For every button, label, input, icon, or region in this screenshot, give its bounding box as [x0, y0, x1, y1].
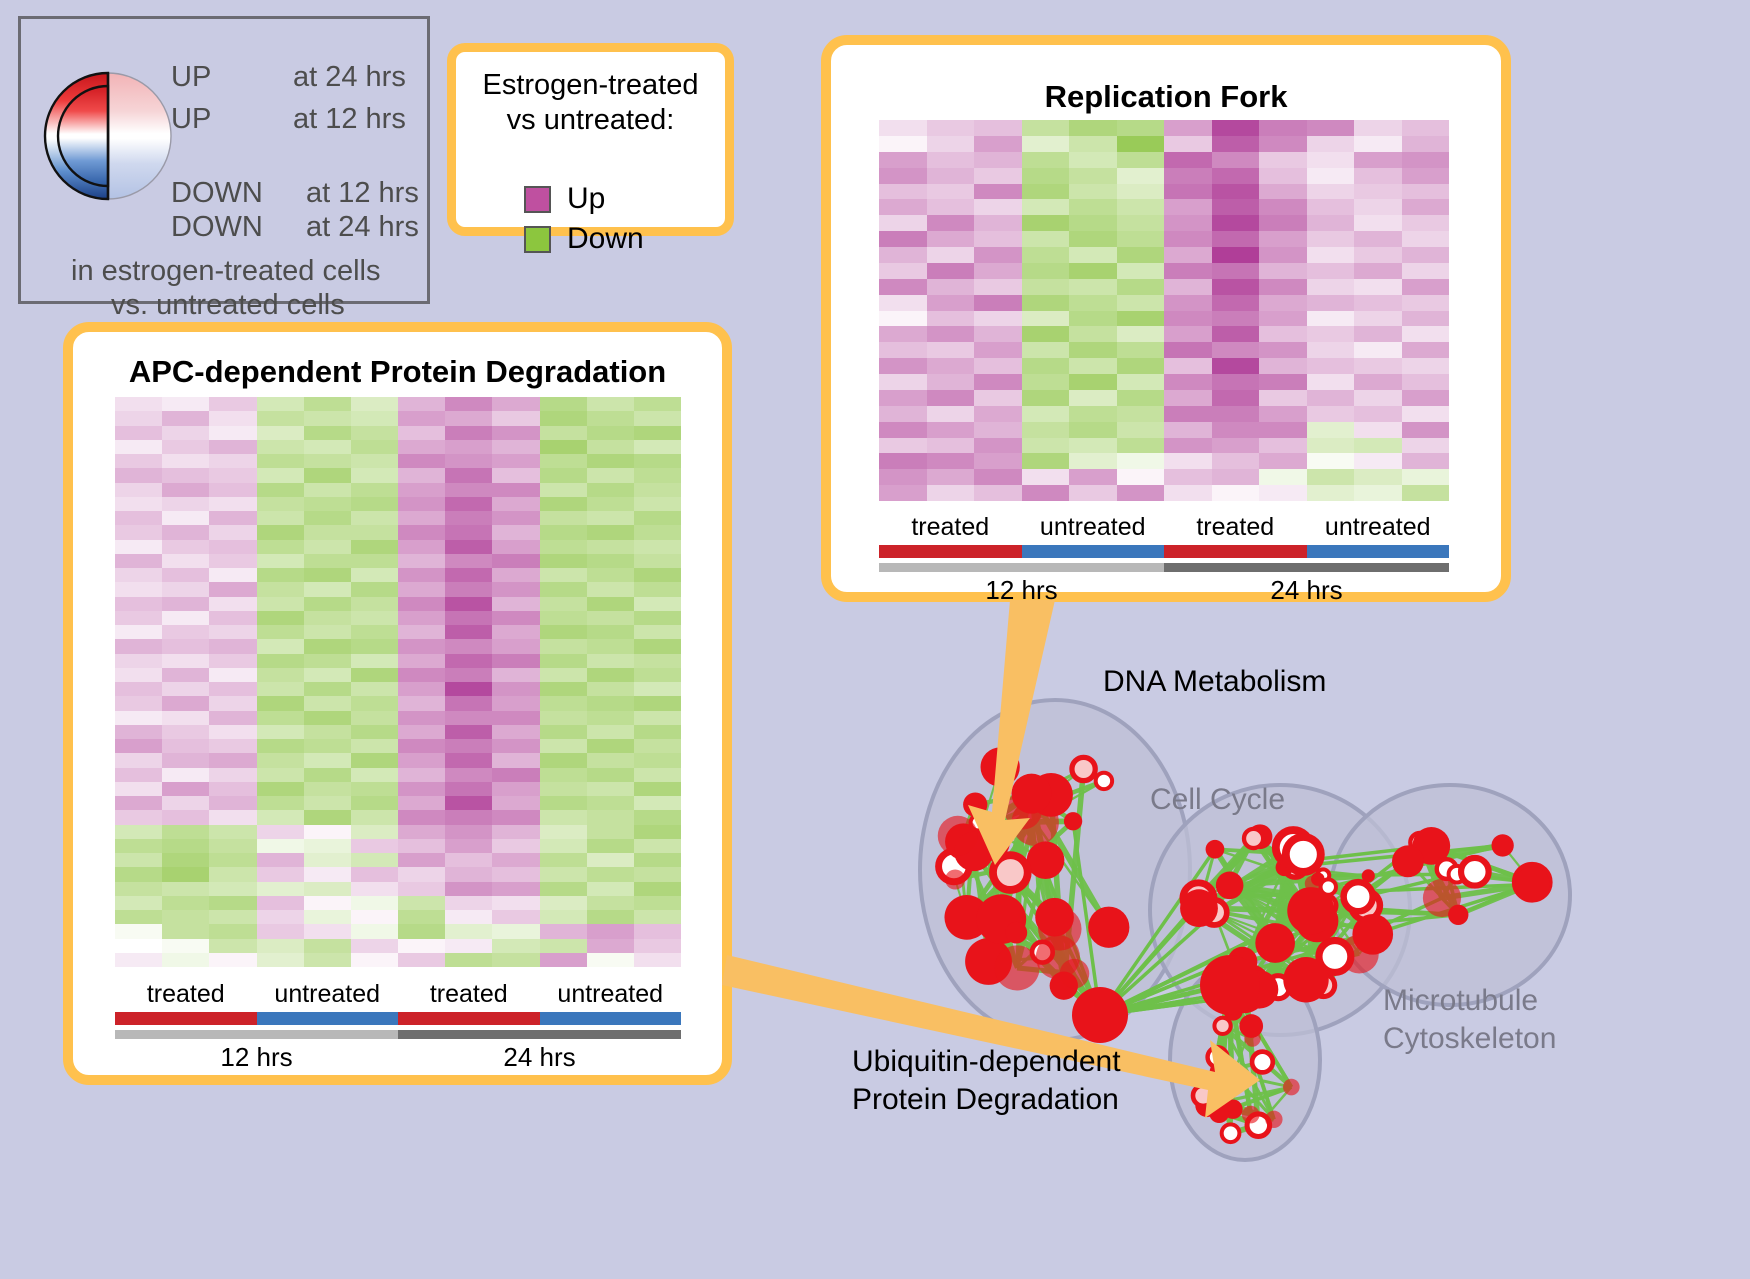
heatmap-cell	[257, 924, 304, 938]
heatmap-cell	[879, 231, 927, 247]
heatmap-cell	[492, 953, 539, 967]
heatmap-cell	[879, 199, 927, 215]
heatmap-cell	[1354, 374, 1402, 390]
heatmap-cell	[1307, 406, 1355, 422]
heatmap-cell	[209, 782, 256, 796]
heatmap-cell	[351, 810, 398, 824]
heatmap-cell	[209, 839, 256, 853]
heatmap-cell	[492, 440, 539, 454]
heatmap-cell	[1212, 215, 1260, 231]
heatmap-cell	[115, 568, 162, 582]
heatmap-cell	[162, 411, 209, 425]
group-color-segment	[1307, 545, 1450, 558]
network-node	[1072, 757, 1095, 780]
heatmap-cell	[1402, 295, 1450, 311]
heatmap-cell	[1164, 485, 1212, 501]
heatmap-cell	[1402, 279, 1450, 295]
heatmap-cell	[209, 882, 256, 896]
heatmap-cell	[540, 768, 587, 782]
heatmap-cell	[209, 910, 256, 924]
heatmap-cell	[1307, 374, 1355, 390]
heatmap-cell	[115, 411, 162, 425]
heatmap-cell	[634, 910, 681, 924]
heatmap-cell	[1022, 199, 1070, 215]
network-node	[1193, 1085, 1213, 1105]
heatmap-cell	[398, 711, 445, 725]
heatmap-cell	[257, 625, 304, 639]
cluster-label-microtubule-line1: Microtubule	[1383, 982, 1556, 1020]
heatmap-cell	[1022, 406, 1070, 422]
heatmap-cell	[257, 540, 304, 554]
heatmap-cell	[1354, 168, 1402, 184]
heatmap-cell	[304, 597, 351, 611]
heatmap-cell	[1212, 295, 1260, 311]
group-color-segment	[115, 1012, 257, 1025]
heatmap-cell	[1164, 279, 1212, 295]
heatmap-cell	[115, 711, 162, 725]
heatmap-cell	[351, 411, 398, 425]
heatmap-cell	[634, 825, 681, 839]
heatmap-cell	[587, 554, 634, 568]
heatmap-cell	[1212, 485, 1260, 501]
heatmap-cell	[974, 231, 1022, 247]
key-caption-line2: vs. untreated cells	[111, 289, 345, 322]
heatmap-cell	[351, 611, 398, 625]
heatmap-cell	[445, 696, 492, 710]
heatmap-cell	[927, 374, 975, 390]
heatmap-cell	[115, 953, 162, 967]
heatmap-cell	[879, 295, 927, 311]
heatmap-cell	[1117, 199, 1165, 215]
heatmap-cell	[209, 639, 256, 653]
heatmap-cell	[634, 582, 681, 596]
heatmap-cell	[162, 825, 209, 839]
heatmap-cell	[1402, 311, 1450, 327]
heatmap-cell	[115, 739, 162, 753]
heatmap-cell	[974, 199, 1022, 215]
heatmap-cell	[1354, 469, 1402, 485]
heatmap-cell	[398, 426, 445, 440]
heatmap-cell	[115, 825, 162, 839]
heatmap-cell	[398, 511, 445, 525]
heatmap-cell	[974, 469, 1022, 485]
heatmap-cell	[257, 682, 304, 696]
heatmap-cell	[257, 468, 304, 482]
heatmap-cell	[1259, 311, 1307, 327]
heatmap-cell	[634, 896, 681, 910]
heatmap-cell	[1354, 438, 1402, 454]
network-node	[1255, 923, 1295, 963]
heatmap-cell	[445, 953, 492, 967]
heatmap-cell	[1164, 438, 1212, 454]
heatmap-cell	[1069, 152, 1117, 168]
heatmap-cell	[879, 279, 927, 295]
heatmap-cell	[927, 136, 975, 152]
updown-legend-title-line2: vs untreated:	[456, 103, 725, 138]
heatmap-cell	[1307, 469, 1355, 485]
heatmap-cell	[492, 483, 539, 497]
heatmap-cell	[492, 753, 539, 767]
heatmap-cell	[304, 853, 351, 867]
heatmap-cell	[587, 497, 634, 511]
heatmap-cell	[1354, 263, 1402, 279]
heatmap-cell	[1022, 295, 1070, 311]
heatmap-cell	[351, 483, 398, 497]
heatmap-cell	[492, 810, 539, 824]
heatmap-cell	[492, 711, 539, 725]
heatmap-cell	[445, 810, 492, 824]
heatmap-cell	[115, 867, 162, 881]
heatmap-cell	[304, 483, 351, 497]
heatmap-cell	[162, 810, 209, 824]
network-node	[1448, 905, 1468, 925]
time-labels-apc-degradation: 12 hrs24 hrs	[115, 1042, 681, 1073]
network-node	[1352, 914, 1393, 955]
heatmap-cell	[351, 525, 398, 539]
heatmap-cell	[257, 768, 304, 782]
heatmap-cell	[634, 696, 681, 710]
network-node	[1239, 1014, 1263, 1038]
heatmap-cell	[540, 910, 587, 924]
heatmap-cell	[587, 910, 634, 924]
heatmap-cell	[445, 867, 492, 881]
heatmap-cell	[1402, 342, 1450, 358]
heatmap-cell	[1117, 231, 1165, 247]
heatmap-cell	[398, 625, 445, 639]
heatmap-cell	[974, 342, 1022, 358]
heatmap-cell	[1117, 406, 1165, 422]
heatmap-cell	[927, 358, 975, 374]
heatmap-cell	[1164, 136, 1212, 152]
heatmap-cell	[634, 525, 681, 539]
heatmap-cell	[445, 924, 492, 938]
heatmap-cell	[257, 554, 304, 568]
heatmap-cell	[1307, 263, 1355, 279]
heatmap-cell	[1402, 422, 1450, 438]
heatmap-cell	[540, 725, 587, 739]
heatmap-cell	[927, 184, 975, 200]
heatmap-cell	[1164, 231, 1212, 247]
heatmap-cell	[1354, 152, 1402, 168]
heatmap-cell	[398, 454, 445, 468]
heatmap-cell	[1022, 231, 1070, 247]
heatmap-cell	[1069, 374, 1117, 390]
heatmap-cell	[115, 497, 162, 511]
heatmap-cell	[398, 839, 445, 853]
heatmap-cell	[115, 525, 162, 539]
network-node	[938, 816, 978, 856]
heatmap-cell	[209, 896, 256, 910]
heatmap-cell	[634, 639, 681, 653]
heatmap-cell	[1022, 342, 1070, 358]
heatmap-cell	[1354, 342, 1402, 358]
heatmap-cell	[1117, 279, 1165, 295]
heatmap-cell	[1117, 438, 1165, 454]
heatmap-cell	[587, 468, 634, 482]
heatmap-cell	[398, 397, 445, 411]
heatmap-cell	[398, 682, 445, 696]
heatmap-cell	[257, 454, 304, 468]
heatmap-cell	[879, 469, 927, 485]
heatmap-cell	[398, 654, 445, 668]
heatmap-cell	[209, 440, 256, 454]
heatmap-cell	[398, 483, 445, 497]
heatmap-cell	[162, 711, 209, 725]
network-node	[1088, 907, 1129, 948]
heatmap-cell	[1212, 199, 1260, 215]
heatmap-cell	[209, 582, 256, 596]
heatmap-cell	[1069, 422, 1117, 438]
heatmap-cell	[162, 639, 209, 653]
heatmap-cell	[1164, 453, 1212, 469]
heatmap-cell	[1307, 453, 1355, 469]
legend-label-up: Up	[567, 182, 605, 216]
heatmap-cell	[1259, 485, 1307, 501]
heatmap-cell	[1354, 295, 1402, 311]
heatmap-cell	[445, 839, 492, 853]
heatmap-cell	[209, 682, 256, 696]
panel-replication-fork: Replication Fork treateduntreatedtreated…	[821, 35, 1511, 602]
heatmap-cell	[115, 554, 162, 568]
heatmap-cell	[445, 468, 492, 482]
heatmap-cell	[540, 397, 587, 411]
heatmap-cell	[1307, 152, 1355, 168]
network-node	[1200, 955, 1260, 1015]
heatmap-cell	[209, 939, 256, 953]
heatmap-cell	[445, 497, 492, 511]
heatmap-cell	[304, 540, 351, 554]
heatmap-cell	[587, 739, 634, 753]
heatmap-cell	[1212, 390, 1260, 406]
key-label-up-12: UP	[171, 103, 211, 136]
updown-legend-card: Estrogen-treated vs untreated: Up Down	[447, 43, 734, 236]
heatmap-cell	[351, 639, 398, 653]
heatmap-cell	[634, 540, 681, 554]
heatmap-cell	[634, 924, 681, 938]
heatmap-cell	[209, 483, 256, 497]
heatmap-cell	[1164, 168, 1212, 184]
heatmap-cell	[257, 582, 304, 596]
heatmap-cell	[1354, 247, 1402, 263]
heatmap-cell	[634, 397, 681, 411]
up-swatch-icon	[524, 186, 551, 213]
heatmap-cell	[351, 668, 398, 682]
heatmap-cell	[162, 654, 209, 668]
heatmap-cell	[445, 611, 492, 625]
heatmap-cell	[115, 397, 162, 411]
network-node	[995, 945, 1040, 990]
heatmap-cell	[974, 136, 1022, 152]
heatmap-cell	[879, 438, 927, 454]
time-label: 24 hrs	[1164, 575, 1449, 606]
down-swatch-icon	[524, 226, 551, 253]
heatmap-cell	[927, 247, 975, 263]
heatmap-cell	[1022, 311, 1070, 327]
heatmap-cell	[540, 625, 587, 639]
heatmap-cell	[974, 263, 1022, 279]
heatmap-cell	[587, 711, 634, 725]
heatmap-cell	[879, 358, 927, 374]
updown-legend-title: Estrogen-treated vs untreated:	[456, 68, 725, 139]
cluster-label-ubiquitin-line1: Ubiquitin-dependent	[852, 1043, 1121, 1081]
heatmap-cell	[398, 825, 445, 839]
heatmap-cell	[445, 397, 492, 411]
heatmap-cell	[162, 483, 209, 497]
heatmap-cell	[209, 739, 256, 753]
heatmap-cell	[445, 454, 492, 468]
heatmap-cell	[587, 882, 634, 896]
network-node	[1214, 1018, 1230, 1034]
heatmap-cell	[879, 390, 927, 406]
cluster-label-dna-metabolism: DNA Metabolism	[1103, 665, 1326, 699]
heatmap-cell	[1164, 199, 1212, 215]
color-key-box: UP at 24 hrs UP at 12 hrs DOWN at 12 hrs…	[18, 16, 430, 304]
heatmap-cell	[209, 953, 256, 967]
network-node	[1242, 1106, 1260, 1124]
heatmap-cell	[927, 390, 975, 406]
heatmap-cell	[1022, 374, 1070, 390]
heatmap-cell	[351, 511, 398, 525]
heatmap-cell	[445, 782, 492, 796]
heatmap-cell	[398, 440, 445, 454]
heatmap-cell	[927, 326, 975, 342]
heatmap-cell	[1164, 326, 1212, 342]
panel-title-replication-fork: Replication Fork	[831, 79, 1501, 115]
heatmap-cell	[445, 939, 492, 953]
heatmap-cell	[879, 406, 927, 422]
heatmap-cell	[1354, 390, 1402, 406]
heatmap-cell	[974, 390, 1022, 406]
heatmap-cell	[492, 825, 539, 839]
heatmap-cell	[1402, 184, 1450, 200]
heatmap-cell	[1307, 295, 1355, 311]
heatmap-cell	[587, 867, 634, 881]
heatmap-cell	[304, 426, 351, 440]
heatmap-cell	[351, 568, 398, 582]
heatmap-cell	[492, 639, 539, 653]
heatmap-cell	[540, 867, 587, 881]
heatmap-cell	[1164, 215, 1212, 231]
heatmap-cell	[304, 511, 351, 525]
group-color-bar-apc-degradation	[115, 1012, 681, 1025]
heatmap-cell	[587, 639, 634, 653]
heatmap-cell	[1259, 184, 1307, 200]
heatmap-cell	[1402, 199, 1450, 215]
heatmap-cell	[1259, 152, 1307, 168]
heatmap-cell	[351, 953, 398, 967]
heatmap-cell	[209, 867, 256, 881]
network-node	[1180, 889, 1218, 927]
heatmap-cell	[634, 768, 681, 782]
heatmap-cell	[445, 682, 492, 696]
heatmap-cell	[587, 810, 634, 824]
heatmap-cell	[492, 768, 539, 782]
heatmap-cell	[974, 247, 1022, 263]
heatmap-cell	[115, 882, 162, 896]
heatmap-cell	[492, 468, 539, 482]
heatmap-cell	[162, 753, 209, 767]
time-label: 12 hrs	[115, 1042, 398, 1073]
heatmap-cell	[1259, 406, 1307, 422]
network-node	[1012, 774, 1052, 814]
heatmap-cell	[304, 768, 351, 782]
heatmap-cell	[257, 839, 304, 853]
heatmap-cell	[1354, 406, 1402, 422]
heatmap-cell	[398, 568, 445, 582]
heatmap-cell	[492, 582, 539, 596]
heatmap-cell	[540, 497, 587, 511]
network-node	[1252, 1052, 1273, 1073]
heatmap-cell	[634, 711, 681, 725]
heatmap-cell	[1402, 358, 1450, 374]
heatmap-cell	[1164, 390, 1212, 406]
heatmap-cell	[115, 654, 162, 668]
heatmap-cell	[879, 184, 927, 200]
heatmap-cell	[209, 796, 256, 810]
heatmap-cell	[398, 582, 445, 596]
heatmap-cell	[304, 411, 351, 425]
heatmap-cell	[974, 438, 1022, 454]
heatmap-cell	[398, 554, 445, 568]
heatmap-cell	[1022, 279, 1070, 295]
group-label: treated	[115, 980, 257, 1009]
heatmap-cell	[162, 426, 209, 440]
heatmap-cell	[634, 497, 681, 511]
heatmap-cell	[540, 525, 587, 539]
heatmap-cell	[1022, 485, 1070, 501]
heatmap-cell	[351, 796, 398, 810]
heatmap-cell	[1164, 422, 1212, 438]
network-node	[1064, 812, 1082, 830]
heatmap-cell	[974, 295, 1022, 311]
heatmap-cell	[351, 924, 398, 938]
heatmap-cell	[540, 696, 587, 710]
heatmap-cell	[1069, 469, 1117, 485]
heatmap-cell	[1402, 390, 1450, 406]
heatmap-cell	[1259, 136, 1307, 152]
heatmap-cell	[587, 668, 634, 682]
heatmap-cell	[162, 597, 209, 611]
heatmap-cell	[1212, 406, 1260, 422]
heatmap-cell	[115, 668, 162, 682]
heatmap-cell	[927, 422, 975, 438]
heatmap-cell	[257, 896, 304, 910]
heatmap-cell	[1022, 168, 1070, 184]
heatmap-cell	[1354, 453, 1402, 469]
heatmap-cell	[162, 497, 209, 511]
heatmap-cell	[304, 882, 351, 896]
heatmap-cell	[115, 511, 162, 525]
time-color-bar-apc-degradation	[115, 1030, 681, 1039]
heatmap-cell	[162, 582, 209, 596]
heatmap-cell	[1069, 406, 1117, 422]
heatmap-cell	[974, 453, 1022, 469]
heatmap-cell	[115, 939, 162, 953]
heatmap-cell	[634, 810, 681, 824]
heatmap-cell	[445, 882, 492, 896]
heatmap-cell	[351, 867, 398, 881]
heatmap-cell	[162, 554, 209, 568]
heatmap-cell	[257, 882, 304, 896]
heatmap-cell	[398, 525, 445, 539]
heatmap-cell	[304, 825, 351, 839]
heatmap-cell	[1307, 326, 1355, 342]
heatmap-cell	[974, 374, 1022, 390]
heatmap-cell	[587, 753, 634, 767]
heatmap-cell	[587, 397, 634, 411]
heatmap-cell	[540, 939, 587, 953]
group-color-segment	[879, 545, 1022, 558]
